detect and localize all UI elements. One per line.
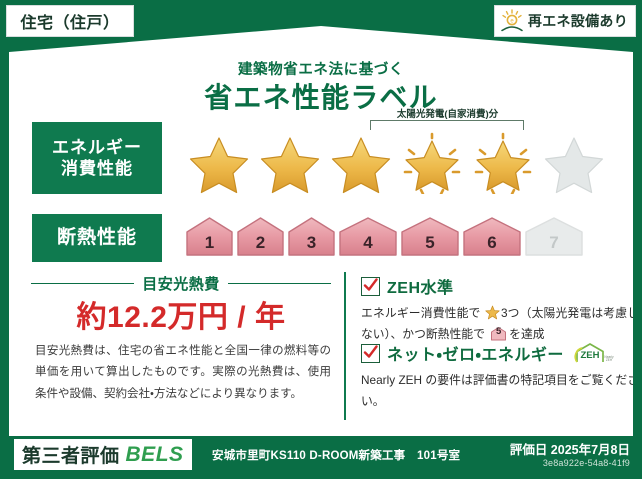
- sun-icon: e: [499, 9, 525, 33]
- house-type-tag: 住宅（住戸）: [6, 5, 134, 37]
- panel-divider: [344, 272, 346, 420]
- insulation-performance-label: 断熱性能: [32, 214, 162, 262]
- checkbox-checked-icon: [361, 277, 380, 296]
- star-icon-solar: [397, 132, 467, 194]
- house-step-6: 6: [461, 214, 523, 258]
- renewable-energy-label: 再エネ設備あり: [528, 11, 628, 31]
- property-address: 安城市里町KS110 D-ROOM新築工事 101号室: [212, 447, 460, 463]
- zeh-level-description: エネルギー消費性能で 3つ（太陽光発電は考慮しない）、かつ断熱性能で 5 を達成: [361, 303, 639, 344]
- inline-house-icon: 5: [490, 326, 507, 341]
- star-icon: [326, 132, 396, 194]
- star-rating: [184, 132, 609, 194]
- energy-performance-label: エネルギー 消費性能: [32, 122, 162, 194]
- footer-bar: 第三者評価 BELS 安城市里町KS110 D-ROOM新築工事 101号室 評…: [0, 436, 642, 479]
- net-zero-title: ネット・ゼロ・エネルギー: [387, 341, 564, 365]
- house-step-label: 4: [337, 233, 399, 253]
- house-step-label: 6: [461, 233, 523, 253]
- star-icon-solar: [468, 132, 538, 194]
- energy-label-line1: エネルギー: [52, 137, 142, 158]
- energy-label-line2: 消費性能: [61, 158, 133, 179]
- energy-performance-row: エネルギー 消費性能 太陽光発電(自家消費)分: [32, 122, 613, 194]
- renewable-energy-badge: e 再エネ設備あり: [494, 5, 636, 37]
- star-icon: [184, 132, 254, 194]
- house-step-label: 2: [235, 233, 286, 253]
- zeh-level-heading: ZEH水準: [361, 274, 639, 298]
- house-type-label: 住宅（住戸）: [20, 9, 119, 33]
- cost-rule-left: [31, 283, 134, 285]
- bels-jp-label: 第三者評価: [22, 441, 120, 468]
- cost-value: 約12.2万円 / 年: [31, 292, 331, 336]
- insulation-rating: 1 2 3: [184, 214, 585, 258]
- zeh-desc-part-a: エネルギー消費性能で: [361, 306, 481, 320]
- net-zero-energy-block: ネット・ゼロ・エネルギー ZEH Nearly ZEH Nearly ZEH の…: [361, 341, 639, 411]
- house-step-7: 7: [523, 214, 585, 258]
- net-zero-heading: ネット・ゼロ・エネルギー ZEH Nearly ZEH: [361, 341, 639, 365]
- evaluation-date: 評価日 2025年7月8日: [510, 439, 630, 458]
- star-icon: [255, 132, 325, 194]
- star-icon-empty: [539, 132, 609, 194]
- inline-star-icon: [485, 305, 500, 320]
- evaluation-id: 3e8a922e-54a8-41f9: [543, 458, 630, 468]
- insulation-label-text: 断熱性能: [57, 226, 137, 250]
- label-root: 住宅（住戸） e 再エネ設備あり 建築物省エネ法に基づく: [0, 0, 642, 479]
- zeh-desc-part-c: を達成: [509, 327, 544, 341]
- zeh-desc-star-count: 3つ（太陽光発電: [501, 306, 591, 320]
- bels-badge: 第三者評価 BELS: [14, 439, 192, 470]
- zeh-level-block: ZEH水準 エネルギー消費性能で 3つ（太陽光発電は考慮しない）、かつ断熱性能で…: [361, 274, 639, 344]
- zeh-logo-icon: ZEH Nearly ZEH: [573, 342, 615, 364]
- cost-rule-right: [228, 283, 331, 285]
- solar-bracket: [370, 120, 524, 130]
- cost-heading-label: 目安光熱費: [142, 273, 220, 294]
- zeh-level-title: ZEH水準: [387, 274, 454, 298]
- house-step-label: 7: [523, 233, 585, 253]
- house-step-label: 5: [399, 233, 461, 253]
- bels-en-label: BELS: [126, 443, 184, 467]
- cost-heading: 目安光熱費: [31, 273, 331, 294]
- insulation-performance-row: 断熱性能: [32, 211, 613, 265]
- label-title: 省エネ性能ラベル: [9, 76, 633, 116]
- house-step-label: 1: [184, 233, 235, 253]
- house-step-label: 3: [286, 233, 337, 253]
- house-step-4: 4: [337, 214, 399, 258]
- solar-annotation: 太陽光発電(自家消費)分: [360, 106, 535, 120]
- cost-disclaimer: 目安光熱費は、住宅の省エネ性能と全国一律の燃料等の単価を用いて算出したものです。…: [35, 341, 331, 405]
- svg-text:ZEH: ZEH: [580, 350, 599, 361]
- checkbox-checked-icon: [361, 344, 380, 363]
- net-zero-description: Nearly ZEH の要件は評価書の特記項目をご覧ください。: [361, 370, 639, 411]
- house-step-2: 2: [235, 214, 286, 258]
- label-card: 建築物省エネ法に基づく 省エネ性能ラベル エネルギー 消費性能 太陽光発電(自家…: [9, 26, 633, 436]
- svg-text:ZEH: ZEH: [606, 358, 613, 362]
- house-step-5: 5: [399, 214, 461, 258]
- house-step-1: 1: [184, 214, 235, 258]
- inline-house-value: 5: [490, 324, 507, 341]
- house-step-3: 3: [286, 214, 337, 258]
